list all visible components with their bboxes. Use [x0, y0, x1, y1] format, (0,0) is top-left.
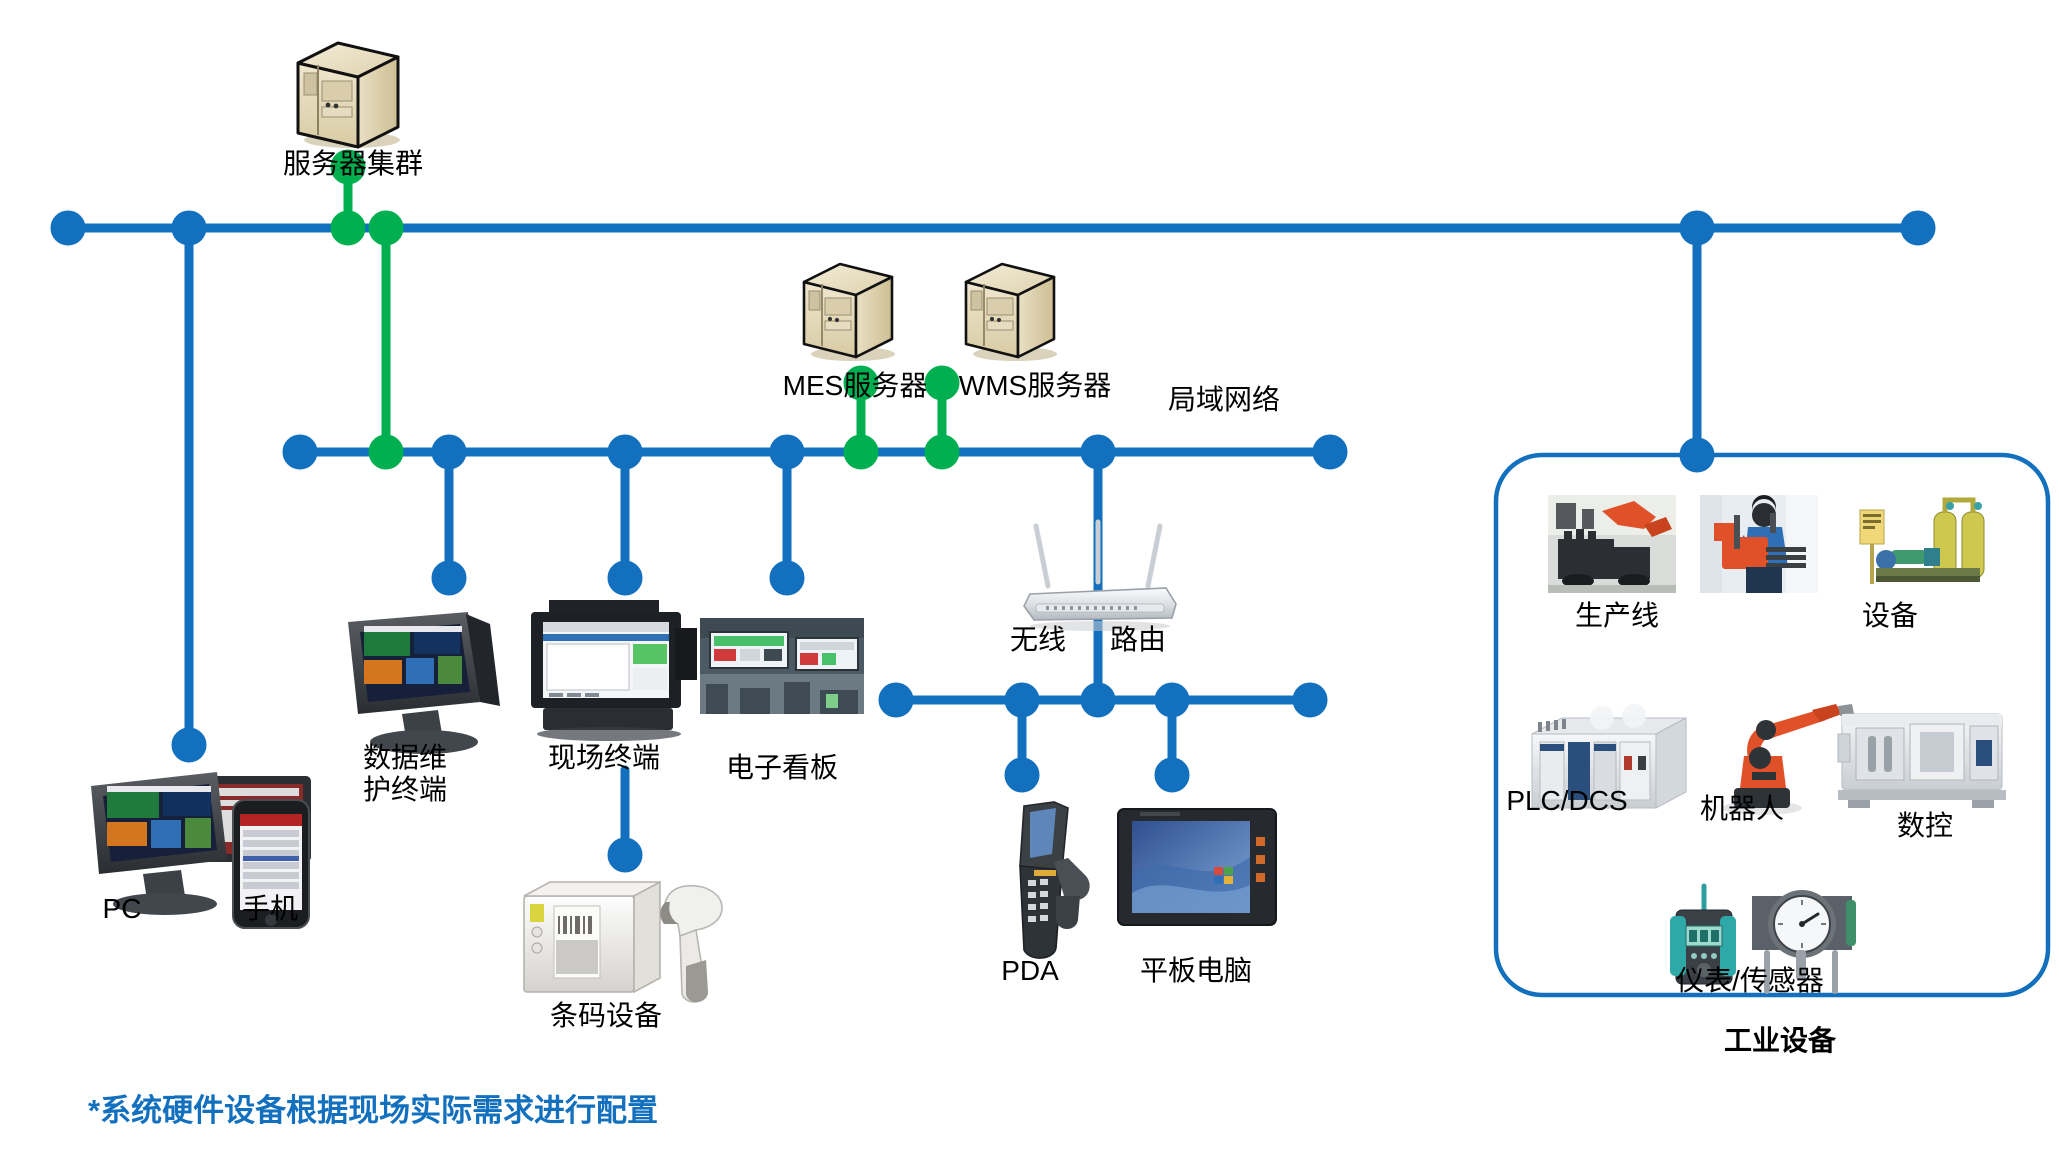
- label-lan: 局域网络: [1168, 384, 1280, 416]
- label-mes-server: MES服务器: [783, 370, 928, 402]
- label-server-cluster: 服务器集群: [283, 148, 423, 180]
- label-site-terminal: 现场终端: [548, 742, 660, 774]
- label-phone: 手机: [242, 893, 298, 925]
- label-data-maint-terminal-line1: 数据维: [363, 742, 447, 774]
- label-wireless: 无线: [1010, 624, 1066, 656]
- label-equipment: 设备: [1862, 600, 1918, 632]
- label-cnc: 数控: [1897, 810, 1953, 842]
- label-router: 路由: [1110, 624, 1166, 656]
- footer-note: *系统硬件设备根据现场实际需求进行配置: [88, 1085, 658, 1130]
- label-industrial-equipment-title: 工业设备: [1724, 1025, 1836, 1057]
- label-robot: 机器人: [1700, 793, 1784, 825]
- label-e-kanban: 电子看板: [726, 752, 838, 784]
- label-data-maint-terminal: 数据维 护终端: [363, 742, 447, 806]
- network-topology-diagram: 服务器集群 MES服务器 WMS服务器 局域网络 无线 路由 PC 手机 数据维…: [0, 0, 2059, 1158]
- label-plc-dcs: PLC/DCS: [1506, 785, 1627, 817]
- label-production-line: 生产线: [1575, 600, 1659, 632]
- label-meter-sensor: 仪表/传感器: [1676, 965, 1824, 997]
- label-wms-server: WMS服务器: [959, 370, 1111, 402]
- label-pc: PC: [103, 893, 142, 925]
- label-pda: PDA: [1001, 955, 1059, 987]
- label-data-maint-terminal-line2: 护终端: [363, 774, 447, 806]
- label-tablet: 平板电脑: [1140, 955, 1252, 987]
- label-barcode-device: 条码设备: [550, 1000, 662, 1032]
